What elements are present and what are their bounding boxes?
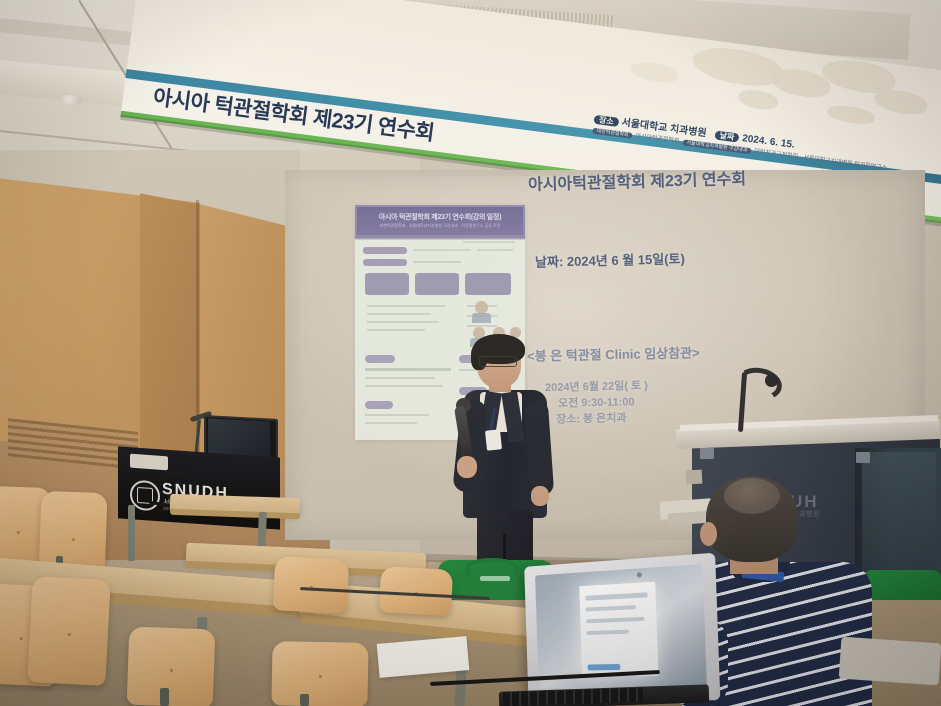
- presenter-hand-right: [531, 486, 549, 506]
- slide-date-line: 날짜: 2024년 6 월 15일(토): [535, 248, 685, 271]
- desk-leg: [128, 505, 135, 561]
- bag-on-floor-right: [839, 637, 941, 686]
- podium-clip: [856, 452, 870, 463]
- slide-sub-line-2: 오전 9:30-11:00: [558, 393, 635, 411]
- presenter-hand-holding-mic: [457, 456, 477, 478]
- podium-clip: [700, 448, 714, 459]
- confidence-monitor-screen: [208, 418, 270, 457]
- poster-title: 아시아 턱관절학회 제23기 연수회(강의 일정): [360, 212, 520, 222]
- chair[interactable]: [273, 556, 350, 614]
- chair-leg: [160, 688, 169, 706]
- chair[interactable]: [127, 627, 216, 706]
- audience-ear: [700, 522, 717, 546]
- av-device-box: [130, 454, 168, 471]
- chair[interactable]: [27, 576, 110, 686]
- chair[interactable]: [271, 641, 368, 706]
- presenter-name-badge: [485, 429, 502, 450]
- poster-subtitle: 대한턱관절학회 · 서울대학교치과병원 구강내과 · 턱관절연구소 공동 주관: [360, 223, 520, 229]
- glasses-icon: [479, 356, 517, 367]
- chair-leg: [300, 694, 309, 706]
- gooseneck-mic-capsule-icon: [765, 374, 778, 387]
- slide-sub-line-3: 장소: 봉 은치과: [556, 409, 627, 426]
- laptop[interactable]: [505, 560, 735, 706]
- laptop-document-window[interactable]: [579, 582, 658, 677]
- audience-scalp: [724, 478, 780, 514]
- lecture-hall-photo: 아시아 턱관절학회 제23기 연수회 장소서울대학교 치과병원 날짜2024. …: [0, 0, 941, 706]
- webcam-icon: [637, 572, 642, 577]
